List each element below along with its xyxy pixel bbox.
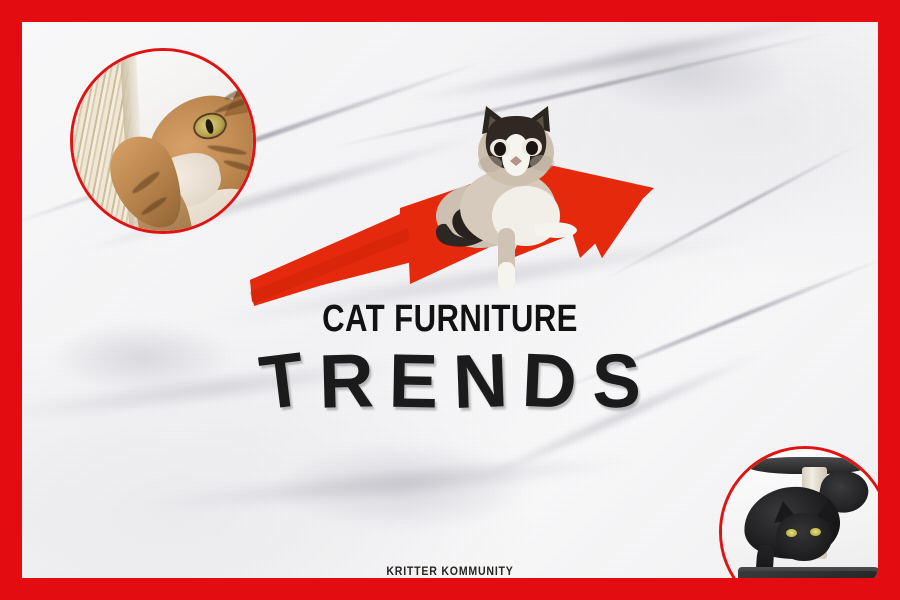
title-letter: R: [318, 348, 375, 415]
black-cat-cat-tree-photo: [719, 446, 878, 578]
page-title-main: T R E N D S: [22, 344, 878, 414]
poster-title-block: CAT FURNITURE T R E N D S: [22, 300, 878, 414]
poster-canvas: CAT FURNITURE T R E N D S KRITTER KOMMUN…: [22, 22, 878, 578]
ginger-cat-scratching-post-photo: [70, 48, 256, 234]
page-title-kicker: CAT FURNITURE: [99, 300, 801, 338]
title-letter: S: [591, 348, 641, 414]
title-letter: E: [388, 348, 438, 414]
poster-frame: CAT FURNITURE T R E N D S KRITTER KOMMUN…: [0, 0, 900, 600]
title-letter: T: [256, 346, 307, 416]
title-letter: N: [452, 348, 509, 415]
brand-watermark: KRITTER KOMMUNITY: [73, 564, 826, 578]
photo-content: [722, 449, 878, 578]
photo-content: [73, 51, 253, 231]
title-letter: D: [520, 347, 578, 415]
snowshoe-cat-on-arrow: [430, 104, 588, 294]
